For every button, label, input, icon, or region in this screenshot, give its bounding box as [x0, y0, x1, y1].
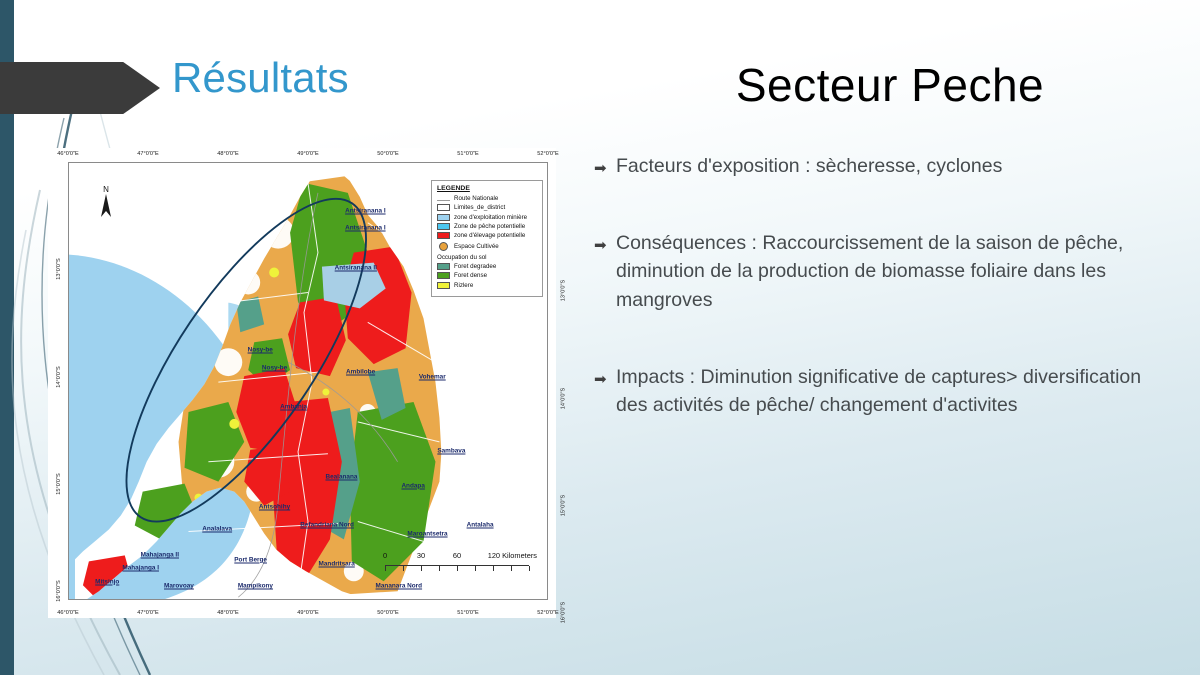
map-place-label: Maroantsetra — [407, 530, 447, 537]
map-place-label: Sambava — [437, 447, 465, 454]
map-place-label: Marovoay — [164, 582, 194, 589]
legend-item: Limites_de_district — [437, 204, 538, 211]
map-place-label: Antsiranana I — [345, 225, 386, 232]
axis-tick-label: 52°0'0"E — [537, 610, 558, 616]
axis-tick-label: 47°0'0"E — [137, 151, 158, 157]
legend-swatch — [437, 200, 450, 201]
map-place-label: Mampikony — [238, 582, 273, 589]
map-place-label: Ambanja — [280, 404, 307, 411]
arrow-bullet-icon: ➡ — [594, 161, 616, 176]
bullet-list: ➡ Facteurs d'exposition : sècheresse, cy… — [594, 152, 1174, 468]
legend-item: Zone de pêche potentielle — [437, 223, 538, 230]
bullet-text: Impacts : Diminution significative de ca… — [616, 363, 1174, 420]
legend-title: LEGENDE — [437, 185, 538, 192]
axis-tick-label: 15°0'0"S — [560, 495, 566, 516]
map-place-label: Mandritsara — [319, 561, 355, 568]
axis-tick-label: 49°0'0"E — [297, 610, 318, 616]
legend-item-list: Route NationaleLimites_de_districtzone d… — [437, 195, 538, 251]
legend-group-item-list: Foret degradeeForet denseRizlere — [437, 263, 538, 289]
map-place-label: Mitsinjo — [95, 578, 119, 585]
axis-tick-label: 50°0'0"E — [377, 610, 398, 616]
legend-item: Route Nationale — [437, 195, 538, 202]
axis-tick-label: 14°0'0"S — [56, 366, 62, 387]
legend-label: zone d'exploitation minière — [454, 214, 527, 221]
legend-swatch — [437, 263, 450, 270]
scalebar-tick-label: 60 — [453, 551, 461, 560]
bullet-text: Facteurs d'exposition : sècheresse, cycl… — [616, 152, 1002, 181]
legend-label: Foret degradee — [454, 263, 496, 270]
compass-needle-icon — [98, 194, 114, 218]
map-place-label: Befandriana Nord — [300, 521, 354, 528]
north-arrow-icon: N — [97, 185, 115, 219]
map-place-label: Nosy-be — [248, 347, 273, 354]
legend-label: Route Nationale — [454, 195, 498, 202]
legend-label: Rizlere — [454, 282, 473, 289]
legend-item: Espace Cultivée — [437, 242, 538, 251]
axis-tick-label: 50°0'0"E — [377, 151, 398, 157]
legend-group-title: Occupation du sol — [437, 254, 538, 261]
axis-tick-label: 51°0'0"E — [457, 610, 478, 616]
map-place-label: Antsiranana I — [345, 207, 386, 214]
banner-arrow-shape — [0, 62, 160, 114]
legend-swatch — [437, 282, 450, 289]
map-legend: LEGENDE Route NationaleLimites_de_distri… — [431, 180, 543, 297]
legend-swatch — [437, 232, 450, 239]
axis-tick-label: 48°0'0"E — [217, 151, 238, 157]
north-label: N — [97, 185, 115, 194]
map-place-label: Vohemar — [419, 373, 446, 380]
axis-tick-label: 46°0'0"E — [57, 151, 78, 157]
axis-tick-label: 13°0'0"S — [56, 259, 62, 280]
map-place-label: Mananara Nord — [376, 582, 423, 589]
map-figure: 46°0'0"E47°0'0"E48°0'0"E49°0'0"E50°0'0"E… — [48, 148, 556, 618]
legend-swatch — [437, 223, 450, 230]
map-place-label: Mahajanga I — [122, 565, 159, 572]
legend-swatch — [437, 214, 450, 221]
section-label: Résultats — [172, 54, 349, 102]
legend-item: Foret degradee — [437, 263, 538, 270]
arrow-bullet-icon: ➡ — [594, 372, 616, 387]
map-place-label: Andapa — [401, 482, 424, 489]
legend-swatch — [437, 272, 450, 279]
axis-tick-label: 51°0'0"E — [457, 151, 478, 157]
axis-tick-label: 46°0'0"E — [57, 610, 78, 616]
axis-tick-label: 16°0'0"S — [560, 602, 566, 623]
legend-label: Zone de pêche potentielle — [454, 223, 525, 230]
list-item: ➡ Facteurs d'exposition : sècheresse, cy… — [594, 152, 1174, 181]
list-item: ➡ Conséquences : Raccourcissement de la … — [594, 229, 1174, 315]
list-item: ➡ Impacts : Diminution significative de … — [594, 363, 1174, 420]
axis-tick-label: 49°0'0"E — [297, 151, 318, 157]
arrow-bullet-icon: ➡ — [594, 238, 616, 253]
map-place-label: Ambilobe — [346, 369, 375, 376]
axis-tick-label: 15°0'0"S — [56, 473, 62, 494]
map-place-label: Antalaha — [467, 521, 494, 528]
axis-tick-label: 13°0'0"S — [560, 280, 566, 301]
legend-swatch — [439, 242, 448, 251]
map-place-label: Antsiranana II — [335, 264, 377, 271]
map-place-label: Analalava — [202, 526, 232, 533]
scalebar-max-label: 120 Kilometers — [488, 551, 537, 560]
axis-tick-label: 48°0'0"E — [217, 610, 238, 616]
map-place-label: Mahajanga II — [141, 552, 179, 559]
legend-item: Foret dense — [437, 272, 538, 279]
section-banner — [0, 62, 160, 114]
legend-label: Limites_de_district — [454, 204, 505, 211]
map-place-label: Nosy-be — [262, 364, 287, 371]
legend-label: Foret dense — [454, 272, 487, 279]
legend-item: Rizlere — [437, 282, 538, 289]
map-place-label: Bealanana — [325, 473, 357, 480]
axis-tick-label: 47°0'0"E — [137, 610, 158, 616]
map-frame[interactable]: Antsiranana IAntsiranana IAntsiranana II… — [68, 162, 548, 600]
scalebar-numbers: 03060120 Kilometers — [377, 551, 537, 562]
legend-label: zone d'élevage potentielle — [454, 232, 525, 239]
axis-tick-label: 52°0'0"E — [537, 151, 558, 157]
map-scalebar: 03060120 Kilometers — [377, 551, 537, 579]
bullet-text: Conséquences : Raccourcissement de la sa… — [616, 229, 1174, 315]
legend-label: Espace Cultivée — [454, 243, 499, 250]
scalebar-tick-label: 30 — [417, 551, 425, 560]
axis-tick-label: 14°0'0"S — [560, 387, 566, 408]
map-place-label: Antsohihy — [259, 504, 290, 511]
legend-item: zone d'élevage potentielle — [437, 232, 538, 239]
legend-swatch — [437, 204, 450, 211]
page-title: Secteur Peche — [600, 58, 1180, 112]
axis-tick-label: 16°0'0"S — [56, 581, 62, 602]
legend-item: zone d'exploitation minière — [437, 214, 538, 221]
map-place-label: Port Berge — [234, 556, 267, 563]
scalebar-tick-label: 0 — [383, 551, 387, 560]
scalebar-ticks — [385, 565, 529, 573]
